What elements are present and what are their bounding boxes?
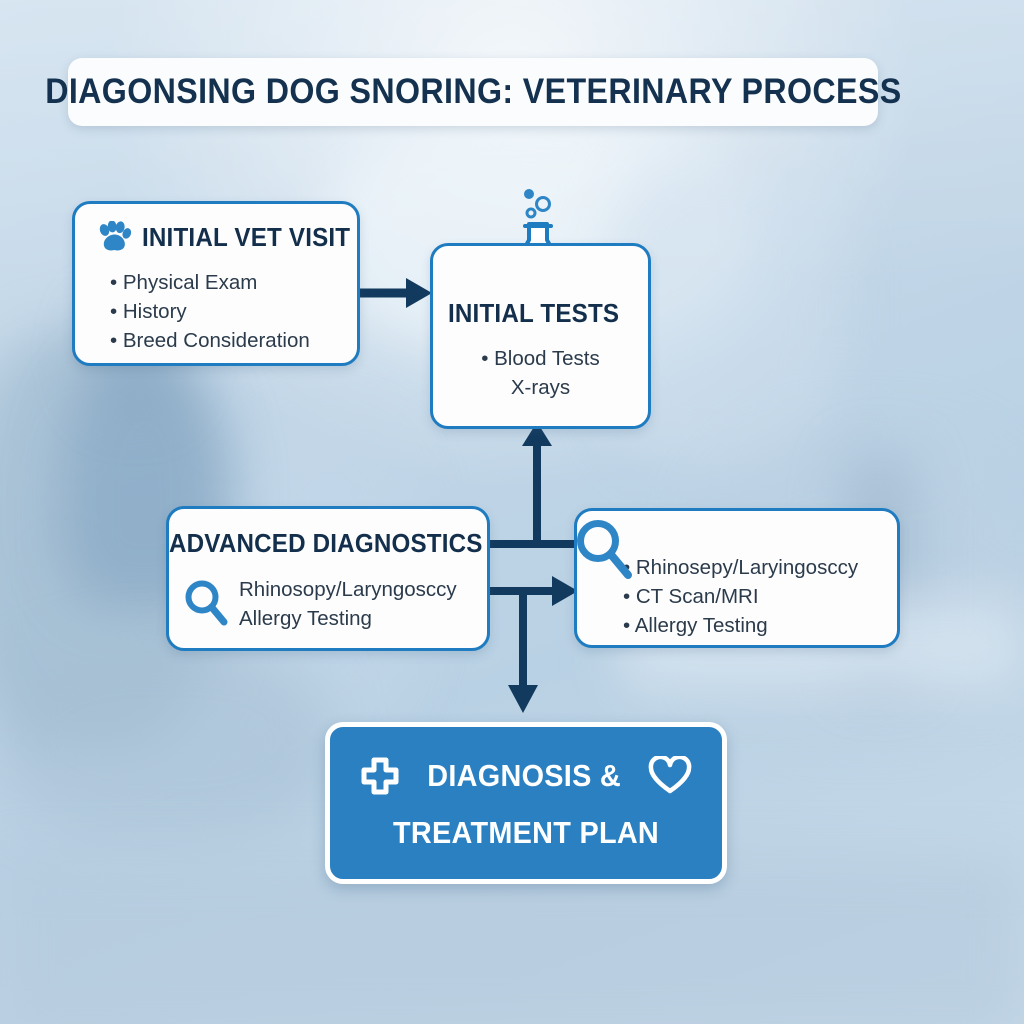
page-title: DIAGONSING DOG SNORING: VETERINARY PROCE…	[45, 72, 901, 112]
magnifier-icon	[183, 579, 229, 627]
list-item: • Breed Consideration	[110, 326, 310, 355]
card-header: INITIAL VET VISIT	[97, 221, 366, 253]
list-item: • Allergy Testing	[623, 611, 858, 640]
card-header: DIAGNOSIS &	[330, 756, 722, 796]
card-title: INITIAL VET VISIT	[142, 222, 350, 253]
list-item: • Physical Exam	[110, 268, 310, 297]
infographic-canvas: DIAGONSING DOG SNORING: VETERINARY PROCE…	[0, 0, 1024, 1024]
medical-cross-icon	[360, 756, 400, 796]
magnifier-icon	[573, 516, 635, 580]
list-item: • Blood Tests	[433, 344, 648, 373]
card-header: ADVANCED DIAGNOSTICS	[169, 528, 487, 559]
card-diagnosis-treatment-plan[interactable]: DIAGNOSIS & TREATMENT PLAN	[325, 722, 727, 884]
card-content-row: Rhinosopy/Laryngosccy Allergy Testing	[183, 575, 457, 633]
page-title-bar: DIAGONSING DOG SNORING: VETERINARY PROCE…	[68, 58, 878, 126]
list-item: Rhinosopy/Laryngosccy	[239, 575, 457, 604]
plan-title-line1: DIAGNOSIS &	[427, 758, 621, 794]
heart-icon	[648, 756, 692, 796]
list-item: X-rays	[433, 373, 648, 402]
card-initial-tests[interactable]: INITIAL TESTS • Blood Tests X-rays	[430, 243, 651, 429]
card-title: ADVANCED DIAGNOSTICS	[169, 528, 483, 559]
card-item-list: • Blood Tests X-rays	[433, 344, 648, 402]
card-advanced-diagnostics[interactable]: ADVANCED DIAGNOSTICS Rhinosopy/Laryngosc…	[166, 506, 490, 651]
card-item-list: • Rhinosepy/Laryingosccy • CT Scan/MRI •…	[623, 553, 858, 640]
card-item-list: Rhinosopy/Laryngosccy Allergy Testing	[239, 575, 457, 633]
list-item: • CT Scan/MRI	[623, 582, 858, 611]
connector-vet-visit-to-initial-tests	[348, 275, 438, 311]
paw-icon	[97, 221, 131, 253]
connector-advanced-to-plan	[498, 585, 558, 717]
card-subheader: TREATMENT PLAN	[330, 815, 722, 851]
card-initial-vet-visit[interactable]: INITIAL VET VISIT • Physical Exam • Hist…	[72, 201, 360, 366]
list-item: • History	[110, 297, 310, 326]
card-title: INITIAL TESTS	[448, 298, 619, 329]
list-item: • Rhinosepy/Laryingosccy	[623, 553, 858, 582]
list-item: Allergy Testing	[239, 604, 457, 633]
card-header: INITIAL TESTS	[433, 298, 648, 329]
plan-title-line2: TREATMENT PLAN	[393, 815, 659, 851]
card-item-list: • Physical Exam • History • Breed Consid…	[110, 268, 310, 355]
